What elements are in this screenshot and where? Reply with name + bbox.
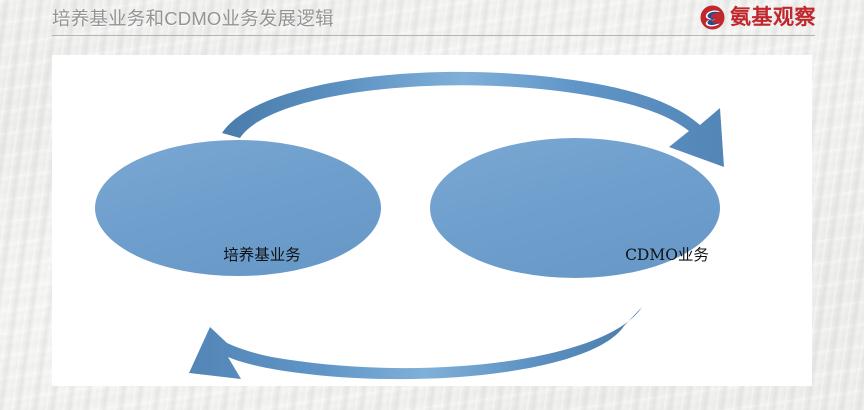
node-left-ellipse[interactable] [95,140,381,276]
cycle-diagram [52,55,812,386]
circular-swirl-logo-icon [700,5,725,30]
slide-header: 培养基业务和CDMO业务发展逻辑 氨基观察 [0,0,864,42]
content-panel: 培养基业务 CDMO业务 [52,55,812,386]
page-title: 培养基业务和CDMO业务发展逻辑 [52,7,334,31]
header-divider [52,35,815,36]
slide-canvas: 培养基业务和CDMO业务发展逻辑 氨基观察 [0,0,864,410]
brand-name: 氨基观察 [730,5,816,30]
arrow-bottom [189,307,642,379]
brand-logo: 氨基观察 [700,4,816,30]
node-right-ellipse[interactable] [430,138,720,278]
